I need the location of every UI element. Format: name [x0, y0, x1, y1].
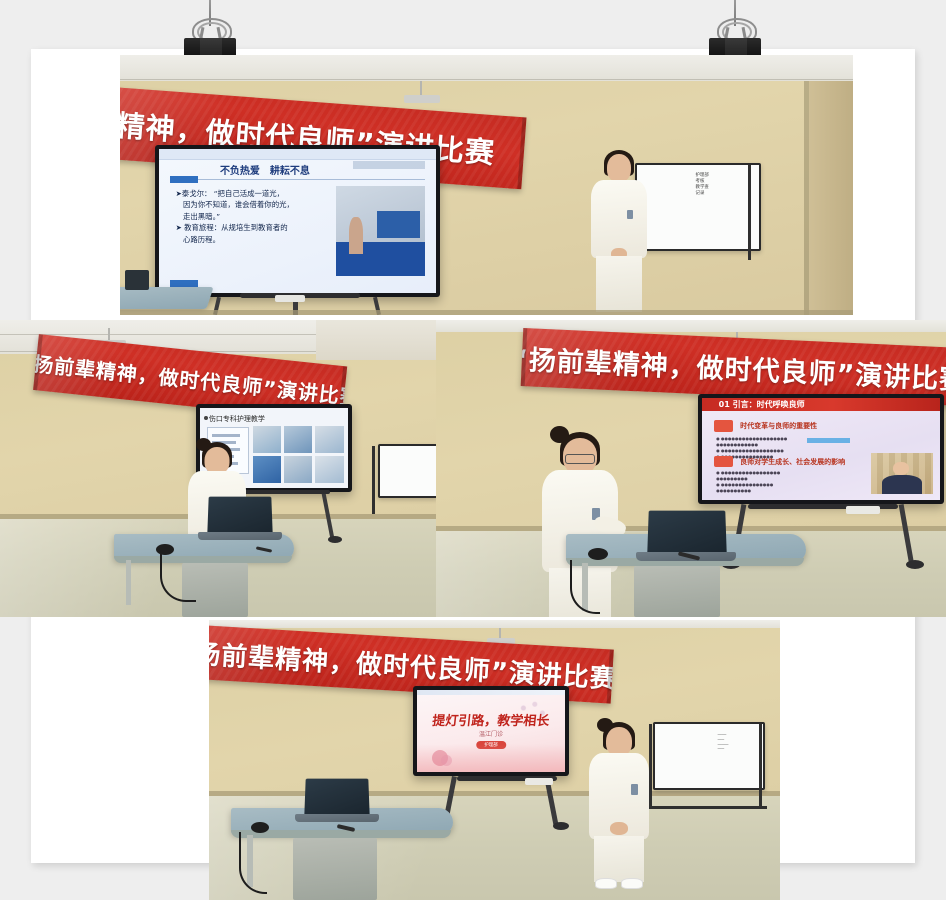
- laptop-screen: [304, 779, 369, 817]
- head: [607, 154, 631, 182]
- slide-embedded-photo: [336, 186, 425, 275]
- uniform-top: [591, 180, 647, 258]
- glasses: [565, 454, 595, 464]
- smartboard-screen: 提灯引路，教学相长 温江门诊 护理部: [417, 690, 565, 772]
- laptop-base: [198, 532, 282, 540]
- whiteboard-note: 护理部 考核 教学查 记录: [696, 173, 709, 197]
- smartboard-display: 提灯引路，教学相长 温江门诊 护理部: [413, 686, 569, 776]
- presentation-photo-middle-right: “扬前辈精神，做时代良师”演讲比赛 01 引言：时代呼唤良师 时代变革与良师的重…: [436, 320, 946, 617]
- caster: [553, 822, 569, 830]
- laptop-screen: [647, 511, 727, 555]
- slide-content: 01 引言：时代呼唤良师 时代变革与良师的重要性 ● ●●●●●●●●●●●●●…: [702, 398, 940, 500]
- binder-clip-right-icon: [705, 0, 765, 58]
- table: [120, 287, 214, 309]
- slide-title: 不负热爱 耕耘不息: [220, 162, 310, 177]
- slide-logo: [353, 161, 425, 170]
- whiteboard-leg: [759, 724, 762, 808]
- presenter: [581, 718, 657, 888]
- section-badge-2: [714, 456, 733, 467]
- presentation-photo-middle-left: “扬前辈精神，做时代良师”演讲比赛 伤口专科护理教学: [0, 320, 436, 617]
- wall-pillar: [809, 81, 853, 315]
- slide-content: 不负热爱 耕耘不息 ➤泰戈尔： “把自己活成一道光， 因为你不知道，谁会借着你的…: [159, 149, 436, 293]
- table-edge: [114, 556, 292, 563]
- projector: [404, 95, 440, 103]
- slide-header-bar: 01 引言：时代呼唤良师: [702, 398, 940, 411]
- caster: [906, 560, 924, 569]
- slide-header: 01 引言：时代呼唤良师: [719, 399, 805, 410]
- room-ceiling: [436, 320, 946, 332]
- shoe: [621, 878, 643, 889]
- shelf-device: [846, 506, 880, 514]
- hands: [610, 822, 628, 835]
- name-badge: [631, 784, 638, 795]
- binder-clip-left-icon: [180, 0, 240, 58]
- slide-content: 提灯引路，教学相长 温江门诊 护理部: [417, 690, 565, 772]
- mouse: [588, 548, 608, 560]
- slide-bullet: ➤泰戈尔： “把自己活成一道光，: [176, 188, 320, 199]
- room-ceiling: [120, 55, 853, 81]
- presentation-photo-bottom: “扬前辈精神，做时代良师”演讲比赛 提灯引路，教学相长 温江门诊 护理部 ───…: [209, 620, 780, 900]
- uniform-trousers: [594, 836, 644, 882]
- smartboard-display: 01 引言：时代呼唤良师 时代变革与良师的重要性 ● ●●●●●●●●●●●●●…: [698, 394, 944, 504]
- name-badge: [627, 210, 633, 219]
- table-cabinet: [293, 838, 377, 900]
- shoe: [595, 878, 617, 889]
- wall-edge: [804, 81, 809, 315]
- laptop-base: [295, 814, 379, 822]
- decorative-blossom: [429, 743, 462, 768]
- stand-shelf: [240, 490, 330, 494]
- presentation-photo-top: 精神，做时代良师”演讲比赛 不负热爱 耕耘不息 ➤泰戈尔： “把自己活成一道光，…: [120, 55, 853, 315]
- section-badge-1: [714, 420, 733, 431]
- slide-bullet: 走出黑暗。”: [176, 211, 320, 222]
- slide-subtitle: 温江门诊: [417, 729, 565, 738]
- room-ceiling: [209, 620, 780, 628]
- whiteboard-leg: [372, 446, 375, 514]
- slide-image-grid: [253, 426, 343, 484]
- head: [606, 727, 632, 756]
- whiteboard-base: [645, 806, 767, 809]
- whiteboard-leg: [748, 165, 751, 260]
- uniform-trousers: [596, 256, 642, 312]
- table-leg: [126, 560, 131, 605]
- laptop: [125, 270, 149, 290]
- table-cabinet: [634, 566, 720, 617]
- shelf-device: [275, 295, 305, 302]
- laptop-screen: [207, 497, 272, 535]
- slide-bullets: ➤泰戈尔： “把自己活成一道光， 因为你不知道，谁会借着你的光， 走出黑暗。” …: [176, 188, 320, 245]
- slide-embedded-photo: [871, 453, 933, 494]
- section-heading-2: 良师对学生成长、社会发展的影响: [740, 457, 845, 467]
- slide-bullet: 心路历程。: [176, 234, 320, 245]
- whiteboard: ──── ─── ───── ───: [653, 722, 765, 790]
- smartboard-display: 不负热爱 耕耘不息 ➤泰戈尔： “把自己活成一道光， 因为你不知道，谁会借着你的…: [155, 145, 440, 297]
- whiteboard: [378, 444, 436, 498]
- smartboard-screen: 不负热爱 耕耘不息 ➤泰戈尔： “把自己活成一道光， 因为你不知道，谁会借着你的…: [159, 149, 436, 293]
- ceiling-soffit: [316, 320, 436, 360]
- presenter: [580, 150, 658, 315]
- slide-bullet: ➤ 教育旅程：从规培生到教育者的: [176, 222, 320, 233]
- slide-title: 提灯引路，教学相长: [417, 710, 565, 729]
- shelf-device: [525, 778, 553, 785]
- caster: [328, 536, 342, 543]
- whiteboard-note: ──── ─── ───── ───: [718, 733, 729, 752]
- section-heading-1: 时代变革与良师的重要性: [740, 421, 817, 431]
- banner-text: “扬前辈精神，做时代良师”演讲比赛: [521, 337, 946, 397]
- smartboard-screen: 01 引言：时代呼唤良师 时代变革与良师的重要性 ● ●●●●●●●●●●●●●…: [702, 398, 940, 500]
- slide-bullet: 因为你不知道，谁会借着你的光，: [176, 199, 320, 210]
- head: [205, 447, 230, 474]
- slide-title: 伤口专科护理教学: [209, 414, 265, 424]
- section-body-2: ● ●●●●●●●●●●●●●●●●● ●●●●●●●●● ● ●●●●●●●●…: [716, 470, 859, 494]
